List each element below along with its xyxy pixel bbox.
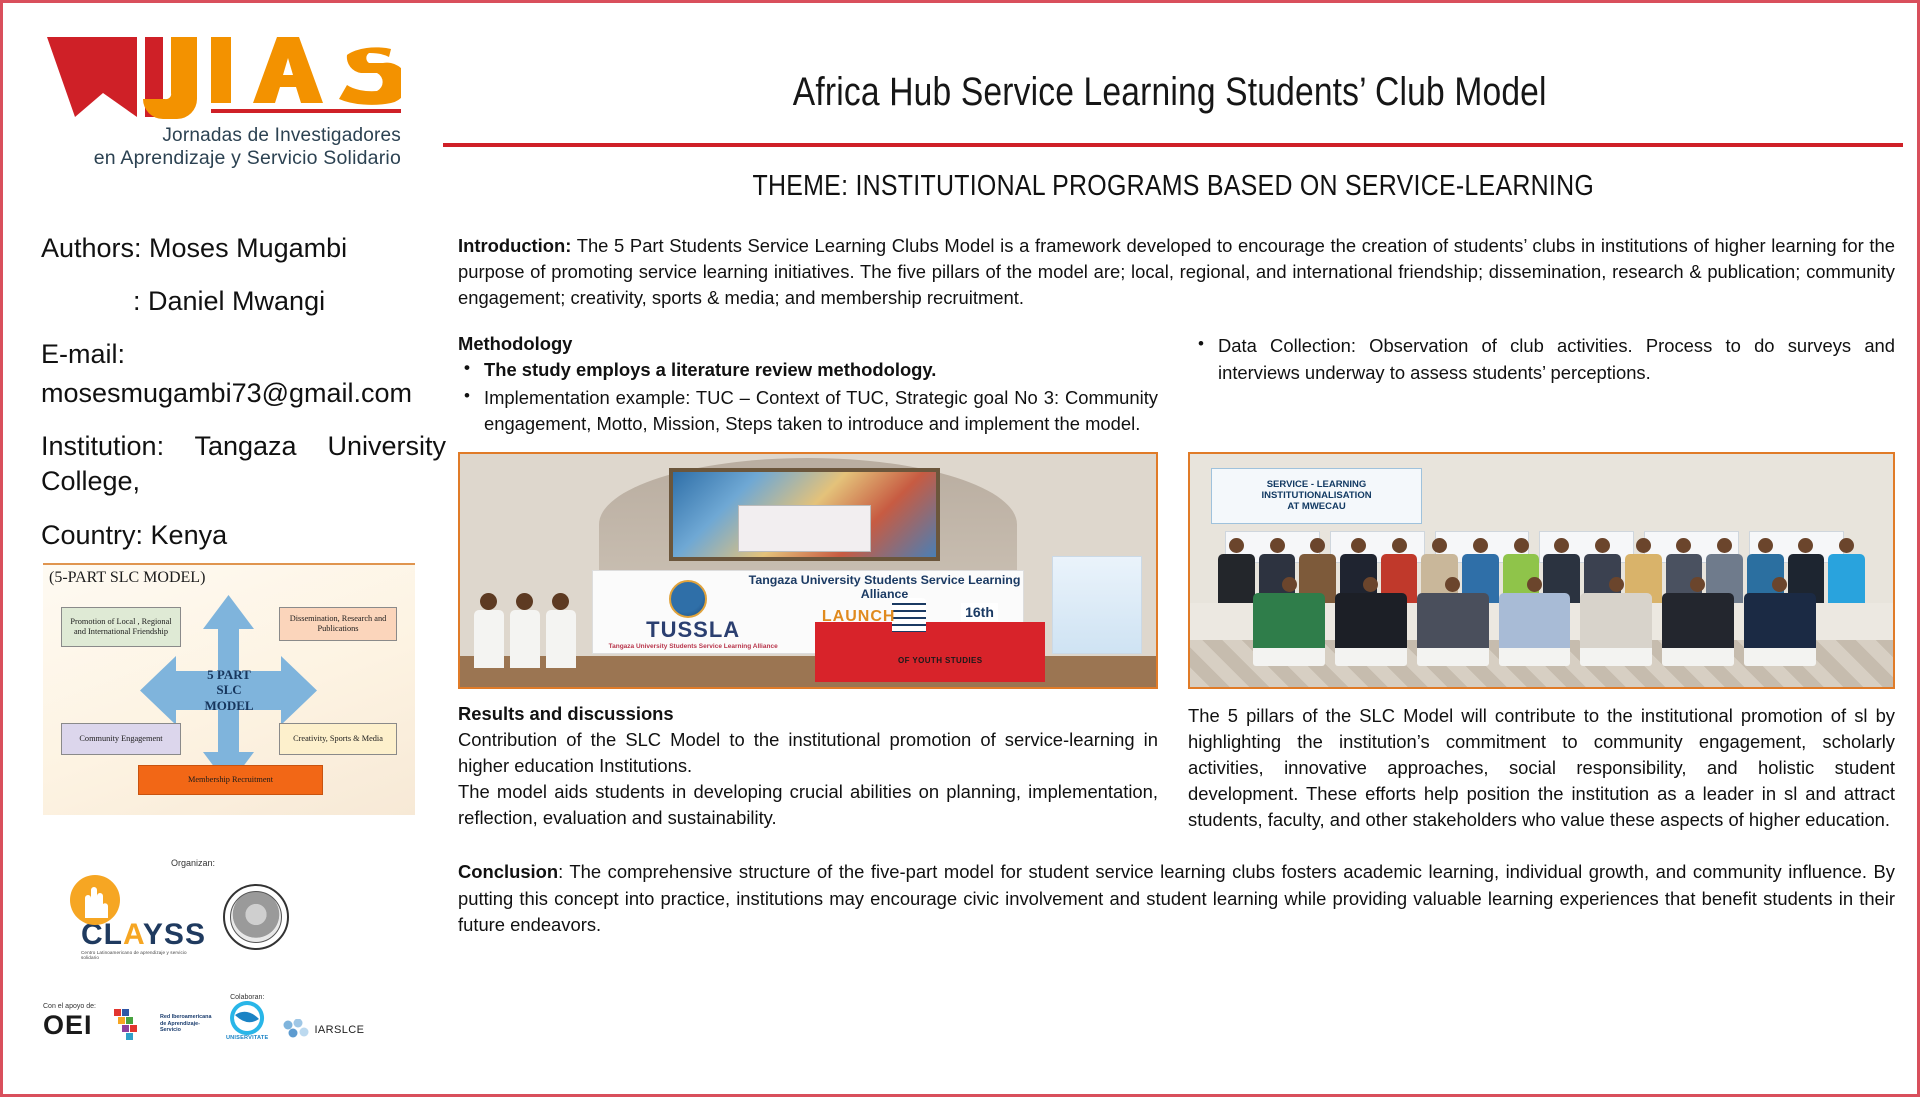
theme-text: THEME: INSTITUTIONAL PROGRAMS BASED ON S… [752,170,1593,203]
mwecau-banner: SERVICE - LEARNING INSTITUTIONALISATION … [1211,468,1422,524]
sponsor-logos-panel: Organizan: CLAYSS Centro Latinoamericano… [43,858,423,1041]
country-line: Country: Kenya [41,518,446,553]
conclusion-label: Conclusion [458,861,558,882]
oei-logo: Con el apoyo de: OEI [43,1003,96,1041]
redaps-wordmark: Red Iberoamericana de Aprendizaje-Servic… [160,1014,212,1034]
tussla-banner-sub: Tangaza University Students Service Lear… [606,643,780,651]
pillar-friendship: Promotion of Local , Regional and Intern… [61,607,181,647]
organisers-label: Organizan: [103,858,283,868]
poster-title-wrap: Africa Hub Service Learning Students’ Cl… [443,53,1897,131]
slc-center-label: 5 PART SLC MODEL [204,667,253,713]
mwecau-banner-line2: INSTITUTIONALISATION [1261,490,1371,501]
introduction-paragraph: Introduction: The 5 Part Students Servic… [458,233,1895,311]
pillar-community-engagement: Community Engagement [61,723,181,755]
iarslce-logo: IARSLCE [282,1019,364,1041]
slc-diagram-caption: (5-PART SLC MODEL) [49,569,205,587]
mwecau-banner-line1: SERVICE - LEARNING [1267,479,1367,490]
uniservitate-wordmark: UNISERVITATE [226,1035,269,1041]
results-paragraph-2: The model aids students in developing cr… [458,779,1158,831]
main-content: Introduction: The 5 Part Students Servic… [458,233,1895,938]
redaps-logo: Red Iberoamericana de Aprendizaje-Servic… [110,1007,212,1041]
launch-text: LAUNCH [822,608,896,626]
tussla-banner-logo: TUSSLA Tangaza University Students Servi… [606,617,780,651]
methodology-bullet-1: The study employs a literature review me… [458,357,1158,383]
header-divider [443,143,1903,147]
methodology-column: Methodology The study employs a literatu… [458,333,1158,437]
pillar-creativity-sports-media: Creativity, Sports & Media [279,723,397,755]
slc-model-diagram: (5-PART SLC MODEL) 5 PART SLC MODEL Prom… [43,563,415,815]
pillars-paragraph: The 5 pillars of the SLC Model will cont… [1188,703,1895,834]
organiser-logo-row: CLAYSS Centro Latinoamericano de aprendi… [43,874,423,960]
photo-row: Tangaza University Students Service Lear… [458,452,1895,689]
slc-center-line1: 5 PART [207,667,251,682]
university-seal-icon [223,884,289,950]
iarslce-wordmark: IARSLCE [314,1024,364,1036]
redaps-mosaic-icon [110,1007,156,1041]
poster-header: Jornadas de Investigadores en Aprendizaj… [3,3,1917,155]
methodology-heading: Methodology [458,333,1158,355]
authors-line: Authors: Moses Mugambi [41,231,446,266]
data-collection-bullet-list: Data Collection: Observation of club act… [1192,333,1895,385]
uniservitate-swirl-icon [227,1001,267,1035]
methodology-row: Methodology The study employs a literatu… [458,333,1895,437]
mwecau-banner-line3: AT MWECAU [1287,501,1345,512]
vijias-logo: Jornadas de Investigadores en Aprendizaj… [41,31,431,176]
support-label: Con el apoyo de: [43,1003,96,1010]
email-label: E-mail: [41,337,446,372]
data-collection-bullet-1: Data Collection: Observation of club act… [1192,333,1895,385]
tussla-launch-photo: Tangaza University Students Service Lear… [458,452,1158,689]
conclusion-paragraph: Conclusion: The comprehensive structure … [458,859,1895,937]
conclusion-text: : The comprehensive structure of the fiv… [458,861,1895,934]
methodology-bullet-list: The study employs a literature review me… [458,357,1158,436]
collab-label: Colaboran: [226,994,269,1001]
iarslce-dots-icon [282,1019,310,1041]
results-row: Results and discussions Contribution of … [458,703,1895,834]
slc-center-line3: MODEL [204,698,253,713]
introduction-text: The 5 Part Students Service Learning Clu… [458,235,1895,308]
pillar-dissemination: Dissemination, Research and Publications [279,607,397,641]
mwecau-group-photo: SERVICE - LEARNING INSTITUTIONALISATION … [1188,452,1895,689]
clayss-logo: CLAYSS Centro Latinoamericano de aprendi… [57,874,187,960]
results-heading: Results and discussions [458,703,1158,725]
uniservitate-logo: Colaboran: UNISERVITATE [226,994,269,1041]
clayss-hand-icon [67,874,123,928]
theme-wrap: THEME: INSTITUTIONAL PROGRAMS BASED ON S… [443,166,1903,206]
vijias-logo-svg [41,31,401,123]
vijias-wordmark [41,31,401,123]
logo-subtitle-line2: en Aprendizaje y Servicio Solidario [41,147,401,170]
logo-subtitle-line1: Jornadas de Investigadores [41,125,401,147]
support-logo-row: Con el apoyo de: OEI Red Iberoamericana [43,994,423,1041]
introduction-label: Introduction: [458,235,571,256]
sidebar-meta: Authors: Moses Mugambi : Daniel Mwangi E… [41,231,446,571]
table-cloth-text: OF YOUTH STUDIES [843,656,1038,665]
pillars-column: The 5 pillars of the SLC Model will cont… [1188,703,1895,834]
tussla-wordmark: TUSSLA [606,617,780,643]
data-collection-column: Data Collection: Observation of club act… [1192,333,1895,437]
page-title: Africa Hub Service Learning Students’ Cl… [793,70,1547,115]
email-value: mosesmugambi73@gmail.com [41,376,446,411]
results-paragraph-1: Contribution of the SLC Model to the ins… [458,727,1158,779]
tussla-banner-title: Tangaza University Students Service Lear… [745,573,1023,602]
results-column: Results and discussions Contribution of … [458,703,1158,834]
clayss-tagline: Centro Latinoamericano de aprendizaje y … [81,950,187,960]
slc-center-line2: SLC [216,682,241,697]
pillar-membership-recruitment: Membership Recruitment [138,765,323,795]
institution-line: Institution: Tangaza University College, [41,429,446,499]
oei-wordmark: OEI [43,1010,96,1041]
author-second-line: : Daniel Mwangi [41,284,446,319]
vijias-logo-subtitle: Jornadas de Investigadores en Aprendizaj… [41,125,401,170]
poster-root: Jornadas de Investigadores en Aprendizaj… [0,0,1920,1097]
methodology-bullet-2: Implementation example: TUC – Context of… [458,385,1158,437]
anniversary-badge: 16th [961,603,998,621]
